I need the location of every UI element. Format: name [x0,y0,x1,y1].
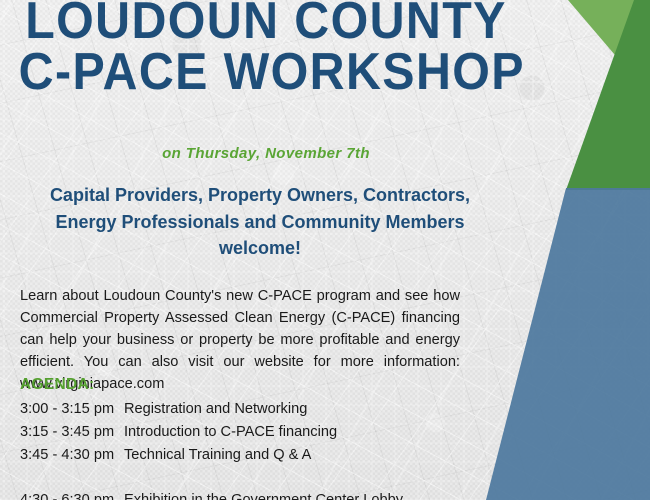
agenda-item-time: 3:00 - 3:15 pm [20,398,124,421]
page-title: LOUDOUN COUNTY C-PACE WORKSHOP [0,0,650,98]
agenda-item-description: Exhibition in the Government Center Lobb… [124,489,490,500]
flyer-canvas: LOUDOUN COUNTY C-PACE WORKSHOP on Thursd… [0,0,650,500]
agenda-item-time: 3:45 - 4:30 pm [20,444,124,467]
agenda-item: 3:00 - 3:15 pmRegistration and Networkin… [20,398,490,421]
audience-subtitle: Capital Providers, Property Owners, Cont… [34,182,486,262]
event-date: on Thursday, November 7th [0,145,650,162]
title-line-2: C-PACE WORKSHOP [19,47,514,98]
agenda-item: 4:30 - 6:30 pmExhibition in the Governme… [20,489,490,500]
agenda-item-description: Registration and Networking [124,398,490,421]
agenda-item-description: Introduction to C-PACE financing [124,421,490,444]
agenda-list: 3:00 - 3:15 pmRegistration and Networkin… [20,398,490,500]
title-line-1: LOUDOUN COUNTY [19,0,514,47]
agenda-item-description: Technical Training and Q & A [124,444,490,467]
agenda-item-time: 4:30 - 6:30 pm [20,489,124,500]
agenda-item: 3:15 - 3:45 pmIntroduction to C-PACE fin… [20,421,490,444]
agenda-heading: AGENDA: [20,376,94,394]
agenda-item: 3:45 - 4:30 pmTechnical Training and Q &… [20,444,490,467]
flyer-content: LOUDOUN COUNTY C-PACE WORKSHOP on Thursd… [0,0,650,500]
agenda-item-time: 3:15 - 3:45 pm [20,421,124,444]
